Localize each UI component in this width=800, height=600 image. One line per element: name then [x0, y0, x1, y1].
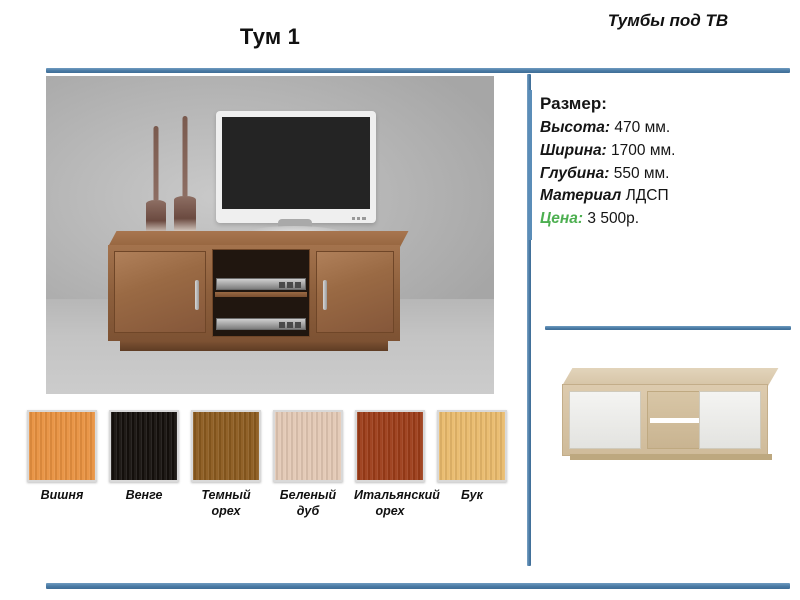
spec-label-material: Материал: [540, 187, 621, 204]
swatch-label-buk: Бук: [436, 488, 508, 504]
spec-heading-label: Размер:: [540, 94, 607, 113]
bottom-divider-line: [46, 583, 790, 589]
wood-grain-texture: [357, 412, 423, 480]
cabinet-open-niche: [212, 249, 310, 337]
vase-neck: [154, 126, 159, 200]
spec-value-material: ЛДСП: [626, 187, 669, 204]
slide-root: Тум 1 Тумбы под ТВ Размер: Высота: 470 м…: [0, 0, 800, 600]
wood-grain-texture: [29, 412, 95, 480]
spec-value-depth: 550 мм.: [614, 165, 670, 182]
page-title-right: Тумбы под ТВ: [545, 10, 791, 31]
spec-heading: Размер:: [540, 92, 790, 117]
render-door-left: [569, 391, 641, 449]
cabinet-plinth: [120, 341, 388, 351]
swatch-label-belenyy-dub: Беленый дуб: [272, 488, 344, 519]
device-buttons: [279, 322, 301, 328]
cabinet-door-right: [316, 251, 394, 333]
spec-label-depth: Глубина:: [540, 165, 609, 182]
color-swatch-list: Вишня Венге Темный орех Беленый дуб Итал: [26, 410, 496, 540]
television-icon: [216, 111, 376, 223]
spec-value-price: 3 500р.: [587, 210, 639, 227]
door-handle-icon: [323, 280, 327, 310]
top-divider-line: [46, 68, 790, 73]
wood-grain-texture: [275, 412, 341, 480]
render-niche-shelf: [650, 418, 700, 423]
wood-grain-texture: [111, 412, 177, 480]
device-buttons: [279, 282, 301, 288]
render-plinth: [570, 454, 772, 460]
spec-row-width: Ширина: 1700 мм.: [540, 140, 790, 163]
spec-value-height: 470 мм.: [614, 119, 670, 136]
tv-screen: [222, 117, 370, 209]
door-handle-icon: [195, 280, 199, 310]
spec-label-width: Ширина:: [540, 142, 607, 159]
vase-neck: [183, 116, 188, 196]
swatch-item-italyanskiy-orekh[interactable]: Итальянский орех: [354, 410, 426, 519]
swatch-chip-buk[interactable]: [437, 410, 507, 482]
swatch-item-venge[interactable]: Венге: [108, 410, 180, 504]
render-open-niche: [647, 391, 703, 449]
dvd-player-device: [216, 318, 306, 330]
render-body: [562, 384, 768, 456]
tv-cabinet-illustration: [108, 231, 400, 351]
swatch-item-vishnya[interactable]: Вишня: [26, 410, 98, 504]
right-middle-divider-line: [545, 326, 791, 330]
spec-row-depth: Глубина: 550 мм.: [540, 163, 790, 186]
cabinet-body: [108, 245, 400, 341]
swatch-item-buk[interactable]: Бук: [436, 410, 508, 504]
page-title-left: Тум 1: [46, 24, 494, 50]
spec-label-price: Цена:: [540, 210, 583, 227]
swatch-label-vishnya: Вишня: [26, 488, 98, 504]
swatch-label-temnyy-orekh: Темный орех: [190, 488, 262, 519]
main-product-photo: [46, 76, 494, 394]
swatch-chip-vishnya[interactable]: [27, 410, 97, 482]
swatch-chip-venge[interactable]: [109, 410, 179, 482]
wood-grain-texture: [193, 412, 259, 480]
swatch-item-belenyy-dub[interactable]: Беленый дуб: [272, 410, 344, 519]
specifications-block: Размер: Высота: 470 мм. Ширина: 1700 мм.…: [540, 92, 790, 231]
niche-shelf: [215, 292, 307, 297]
swatch-label-italyanskiy-orekh: Итальянский орех: [354, 488, 426, 519]
swatch-label-venge: Венге: [108, 488, 180, 504]
swatch-chip-italyanskiy-orekh[interactable]: [355, 410, 425, 482]
spec-accent-bar: [528, 90, 532, 240]
av-receiver-device: [216, 278, 306, 290]
swatch-chip-belenyy-dub[interactable]: [273, 410, 343, 482]
spec-row-material: Материал ЛДСП: [540, 185, 790, 208]
spec-row-price: Цена: 3 500р.: [540, 208, 790, 231]
secondary-product-photo: [552, 352, 790, 480]
cabinet-door-left: [114, 251, 206, 333]
tv-indicator-lights: [352, 217, 366, 220]
spec-label-height: Высота:: [540, 119, 610, 136]
tv-cabinet-render: [562, 368, 780, 464]
swatch-item-temnyy-orekh[interactable]: Темный орех: [190, 410, 262, 519]
swatch-chip-temnyy-orekh[interactable]: [191, 410, 261, 482]
render-door-right: [699, 391, 761, 449]
spec-row-height: Высота: 470 мм.: [540, 117, 790, 140]
wood-grain-texture: [439, 412, 505, 480]
spec-value-width: 1700 мм.: [611, 142, 675, 159]
